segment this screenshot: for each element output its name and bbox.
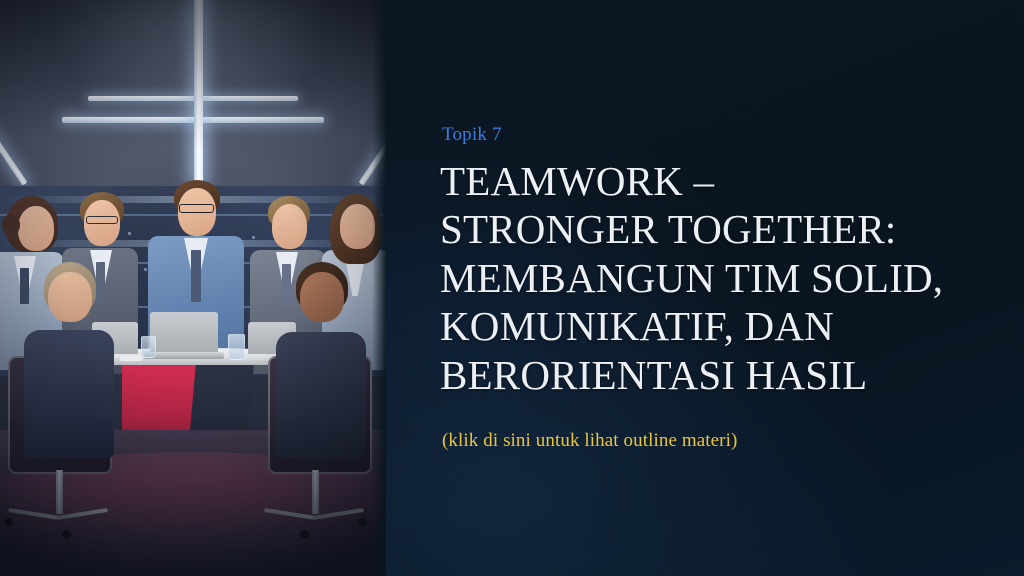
tie — [96, 262, 105, 304]
laptop-screen-center — [150, 312, 218, 354]
water-glass-left — [141, 336, 156, 358]
ceiling-led-strip-horizontal-lower — [62, 117, 324, 123]
head — [272, 204, 307, 249]
tie — [282, 264, 291, 306]
city-light — [252, 236, 255, 239]
water-glass-right — [228, 334, 245, 360]
head — [18, 206, 54, 251]
title-line-3: MEMBANGUN TIM SOLID, — [440, 254, 978, 303]
title-line-2: STRONGER TOGETHER: — [440, 205, 978, 254]
city-light — [128, 232, 131, 235]
eyeglasses — [179, 204, 214, 213]
city-light — [144, 268, 147, 271]
office-chair-left-castor — [4, 518, 13, 527]
hero-photo — [0, 0, 386, 576]
office-chair-right-castor — [300, 530, 309, 539]
office-chair-left-castor — [62, 530, 71, 539]
page-title: TEAMWORK – STRONGER TOGETHER: MEMBANGUN … — [440, 157, 978, 400]
head — [48, 272, 92, 322]
hair-bun — [2, 214, 20, 236]
eyeglasses — [86, 216, 118, 224]
office-chair-right-castor — [358, 518, 367, 527]
text-panel: Topik 7 TEAMWORK – STRONGER TOGETHER: ME… — [386, 0, 1024, 576]
office-chair-right-stem — [312, 470, 319, 514]
tie — [20, 268, 29, 304]
title-line-5: BERORIENTASI HASIL — [440, 351, 978, 400]
body — [24, 330, 114, 458]
head — [300, 272, 344, 322]
body — [276, 332, 366, 458]
paper-document — [120, 355, 142, 361]
topic-eyebrow: Topik 7 — [442, 124, 978, 146]
title-line-1: TEAMWORK – — [440, 157, 978, 206]
outline-link[interactable]: (klik di sini untuk lihat outline materi… — [442, 430, 737, 452]
photo-scene — [0, 0, 386, 576]
head — [340, 204, 375, 249]
slide: Topik 7 TEAMWORK – STRONGER TOGETHER: ME… — [0, 0, 1024, 576]
office-chair-left-stem — [56, 470, 63, 514]
ceiling-led-strip-horizontal-upper — [88, 96, 298, 101]
ceiling-led-strip-center — [194, 0, 203, 184]
ceiling-shading — [0, 0, 386, 205]
tie — [191, 250, 201, 302]
title-line-4: KOMUNIKATIF, DAN — [440, 302, 978, 351]
laptop-base-center — [144, 352, 224, 359]
